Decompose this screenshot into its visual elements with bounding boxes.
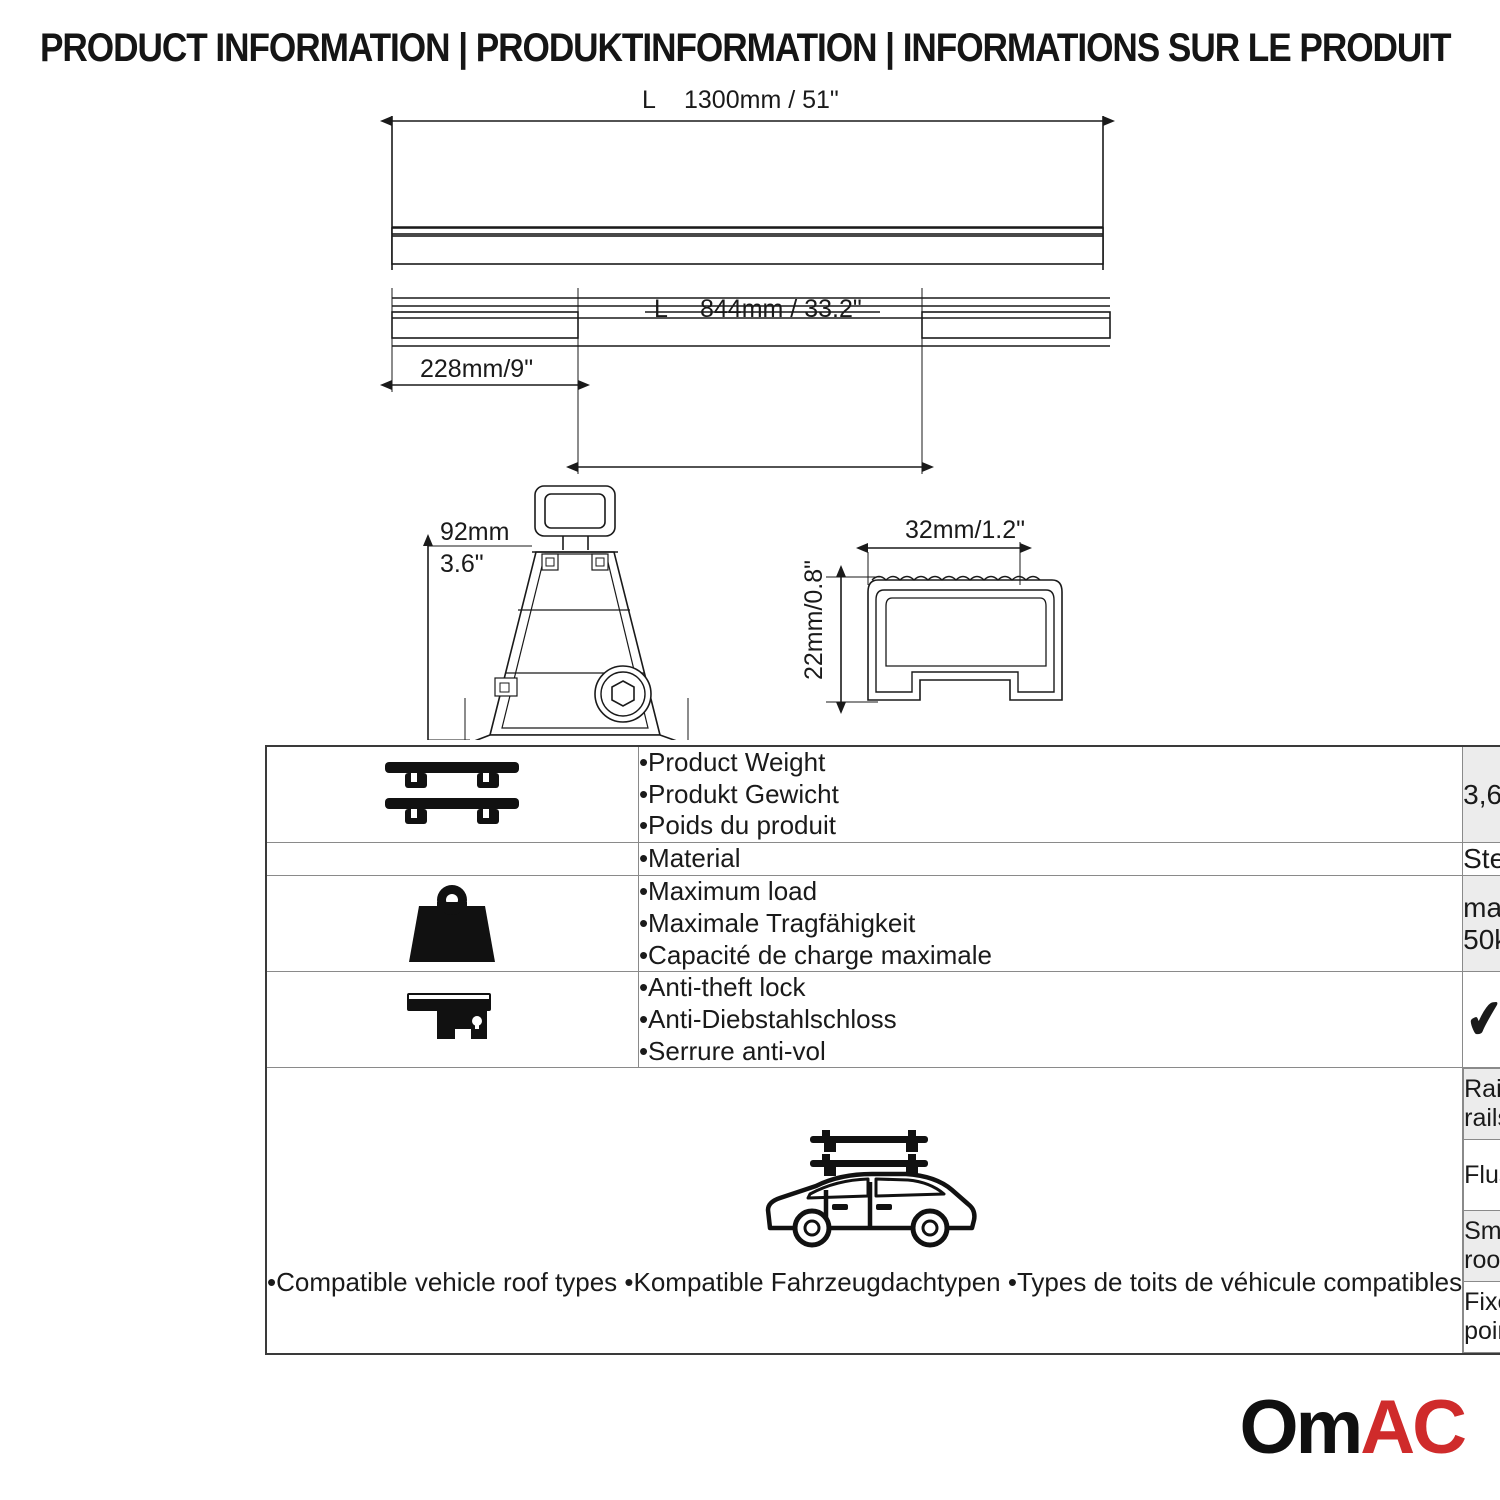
lock-icon-cell xyxy=(266,972,638,1068)
label-en: •Maximum load xyxy=(639,876,1462,908)
check-mark-icon: ✔ xyxy=(1464,992,1500,1048)
label-profile-width: 32mm/1.2" xyxy=(905,516,1025,544)
roof-types-labels-cell: •Compatible vehicle roof types •Kompatib… xyxy=(266,1068,1463,1355)
profile-cross-section xyxy=(868,577,1062,701)
roof-types-table: Raised rails ✗ Flush rails ✗ xyxy=(1463,1068,1500,1353)
crossbars-icon-cell xyxy=(266,746,638,843)
maximum-load-labels: •Maximum load •Maximale Tragfähigkeit •C… xyxy=(638,876,1462,972)
roof-type-row-fixed-points: Fixed points ✗ xyxy=(1464,1282,1500,1353)
roof-type-row-raised-rails: Raised rails ✗ xyxy=(1464,1069,1500,1140)
product-weight-value: 3,6kg / 8lbs xyxy=(1463,746,1500,843)
roof-types-subtable-cell: Raised rails ✗ Flush rails ✗ xyxy=(1463,1068,1500,1355)
drawings-svg: L 1300mm / 51" 228mm/9" L 844mm / 33.2" … xyxy=(0,80,1500,740)
page-title: PRODUCT INFORMATION | PRODUKTINFORMATION… xyxy=(40,26,1290,71)
omac-logo: OmAC xyxy=(1240,1390,1464,1466)
roof-type-name: Smooth roof xyxy=(1464,1211,1500,1282)
label-profile-height: 22mm/0.8" xyxy=(800,560,828,680)
weight-icon-cell xyxy=(266,876,638,972)
table-row-anti-theft-lock: •Anti-theft lock •Anti-Diebstahlschloss … xyxy=(266,972,1500,1068)
label-en: •Material xyxy=(639,843,1462,875)
lock-icon xyxy=(397,977,507,1057)
table-row-material: •Material Steel xyxy=(266,843,1500,876)
product-weight-labels: •Product Weight •Produkt Gewicht •Poids … xyxy=(638,746,1462,843)
roof-type-row-smooth-roof: Smooth roof ✓ xyxy=(1464,1211,1500,1282)
logo-text-dark: Om xyxy=(1240,1385,1361,1470)
crossbars-icon xyxy=(377,752,527,832)
label-de: •Produkt Gewicht xyxy=(639,779,1462,811)
material-labels: •Material xyxy=(638,843,1462,876)
label-span-value: 844mm / 33.2" xyxy=(700,295,862,323)
label-fr: •Capacité de charge maximale xyxy=(639,940,1462,972)
roof-type-name: Raised rails xyxy=(1464,1069,1500,1140)
roof-type-name: Flush rails xyxy=(1464,1140,1500,1211)
label-span-symbol: L xyxy=(654,295,668,323)
dimension-span-length xyxy=(578,312,922,474)
maximum-load-value: max 50kg/110lbs xyxy=(1463,876,1500,972)
table-row-roof-types: •Compatible vehicle roof types •Kompatib… xyxy=(266,1068,1500,1355)
label-en: •Anti-theft lock xyxy=(639,972,1462,1004)
roof-label-en: •Compatible vehicle roof types xyxy=(267,1267,617,1297)
label-foot-offset: 228mm/9" xyxy=(420,355,533,383)
roof-label-fr: •Types de toits de véhicule xyxy=(1008,1267,1316,1297)
roof-label-de: •Kompatible Fahrzeugdachtypen xyxy=(624,1267,1000,1297)
crossbar-top-view xyxy=(392,227,1103,264)
label-foot-height-in: 3.6" xyxy=(440,550,484,578)
roof-type-row-flush-rails: Flush rails ✗ xyxy=(1464,1140,1500,1211)
table-row-product-weight: •Product Weight •Produkt Gewicht •Poids … xyxy=(266,746,1500,843)
anti-theft-lock-labels: •Anti-theft lock •Anti-Diebstahlschloss … xyxy=(638,972,1462,1068)
roof-type-name: Fixed points xyxy=(1464,1282,1500,1353)
label-bar-length-symbol: L xyxy=(642,86,656,114)
label-bar-length-value: 1300mm / 51" xyxy=(684,86,839,114)
label-foot-height-mm: 92mm xyxy=(440,518,509,546)
table-row-maximum-load: •Maximum load •Maximale Tragfähigkeit •C… xyxy=(266,876,1500,972)
label-de: •Maximale Tragfähigkeit xyxy=(639,908,1462,940)
label-en: •Product Weight xyxy=(639,747,1462,779)
car-with-rack-icon-wrap xyxy=(267,1124,1462,1261)
roof-label-fr-cont: compatibles xyxy=(1323,1267,1462,1297)
label-de: •Anti-Diebstahlschloss xyxy=(639,1004,1462,1036)
label-fr: •Serrure anti-vol xyxy=(639,1036,1462,1068)
material-icon-cell xyxy=(266,843,638,876)
weight-icon xyxy=(397,876,507,966)
label-fr: •Poids du produit xyxy=(639,810,1462,842)
product-spec-table: •Product Weight •Produkt Gewicht •Poids … xyxy=(265,745,1500,1355)
car-with-rack-icon xyxy=(740,1124,990,1254)
material-value: Steel xyxy=(1463,843,1500,876)
logo-text-accent: AC xyxy=(1360,1385,1464,1470)
anti-theft-lock-value: ✔ xyxy=(1463,972,1500,1068)
technical-drawings: L 1300mm / 51" 228mm/9" L 844mm / 33.2" … xyxy=(0,80,1500,740)
